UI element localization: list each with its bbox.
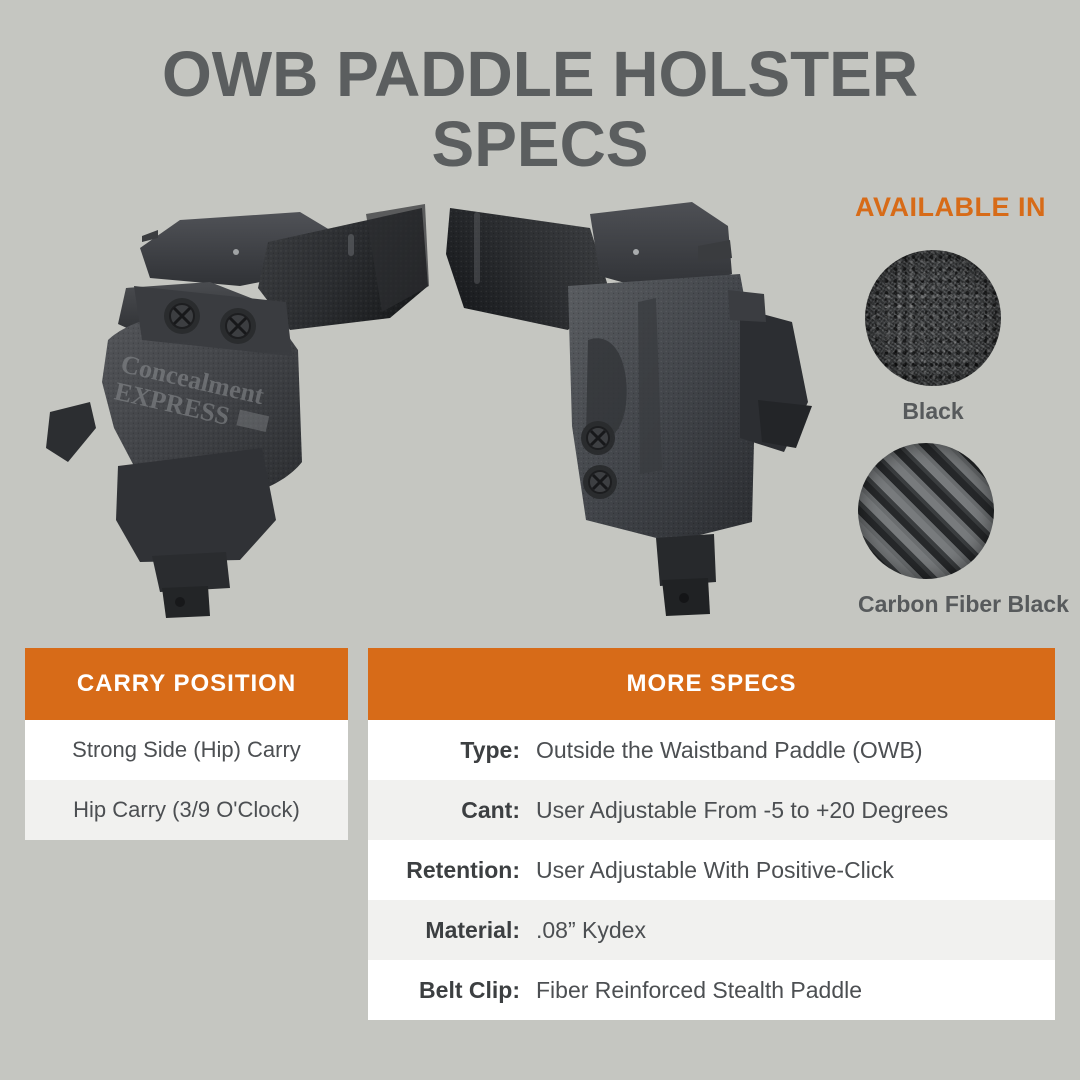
more-specs-table-header: MORE SPECS — [368, 648, 1055, 720]
available-in-label: AVAILABLE IN — [855, 192, 1046, 223]
belt-clip-tab — [162, 586, 210, 618]
holster-muzzle — [152, 552, 230, 592]
paddle-hook — [758, 400, 812, 448]
page-title: OWB PADDLE HOLSTER SPECS — [0, 42, 1080, 176]
holster-shell — [116, 448, 276, 562]
color-option-black[interactable]: Black — [865, 250, 1001, 425]
holster-rear-illustration — [440, 190, 830, 620]
more-specs-table: MORE SPECS Type: Outside the Waistband P… — [368, 648, 1055, 1020]
black-texture-swatch — [865, 250, 1001, 386]
spec-value-material: .08” Kydex — [536, 917, 646, 944]
table-row: Cant: User Adjustable From -5 to +20 Deg… — [368, 780, 1055, 840]
carry-position-value: Hip Carry (3/9 O'Clock) — [73, 797, 300, 823]
color-option-carbon-fiber-black[interactable]: Carbon Fiber Black — [858, 443, 1069, 618]
holster-shell — [568, 274, 756, 542]
table-row: Type: Outside the Waistband Paddle (OWB) — [368, 720, 1055, 780]
carry-position-value: Strong Side (Hip) Carry — [72, 737, 301, 763]
table-row: Hip Carry (3/9 O'Clock) — [25, 780, 348, 840]
spec-label-material: Material: — [368, 917, 536, 944]
page-title-line-2: SPECS — [0, 112, 1080, 176]
table-row: Strong Side (Hip) Carry — [25, 720, 348, 780]
paddle-hook — [46, 402, 96, 462]
product-photo-rear — [440, 190, 830, 620]
spec-value-cant: User Adjustable From -5 to +20 Degrees — [536, 797, 948, 824]
color-option-carbon-fiber-black-label: Carbon Fiber Black — [858, 591, 1069, 618]
adjustment-screw-1 — [164, 298, 200, 334]
table-row: Material: .08” Kydex — [368, 900, 1055, 960]
spec-value-retention: User Adjustable With Positive-Click — [536, 857, 894, 884]
adjustment-screw-1 — [581, 421, 615, 455]
product-photo-front: Concealment EXPRESS — [30, 190, 450, 620]
table-row: Belt Clip: Fiber Reinforced Stealth Padd… — [368, 960, 1055, 1020]
spec-label-type: Type: — [368, 737, 536, 764]
holster-front-illustration: Concealment EXPRESS — [30, 190, 450, 620]
spec-label-cant: Cant: — [368, 797, 536, 824]
spec-label-retention: Retention: — [368, 857, 536, 884]
table-row: Retention: User Adjustable With Positive… — [368, 840, 1055, 900]
spec-value-belt-clip: Fiber Reinforced Stealth Paddle — [536, 977, 862, 1004]
carry-position-table: CARRY POSITION Strong Side (Hip) Carry H… — [25, 648, 348, 840]
adjustment-screw-2 — [583, 465, 617, 499]
spec-value-type: Outside the Waistband Paddle (OWB) — [536, 737, 923, 764]
belt-attachment — [728, 290, 766, 322]
color-option-black-label: Black — [865, 398, 1001, 425]
page-title-line-1: OWB PADDLE HOLSTER — [162, 38, 918, 110]
carbon-fiber-texture-swatch — [858, 443, 994, 579]
carry-position-table-header: CARRY POSITION — [25, 648, 348, 720]
adjustment-screw-2 — [220, 308, 256, 344]
infographic-page: OWB PADDLE HOLSTER SPECS — [0, 0, 1080, 1080]
spec-label-belt-clip: Belt Clip: — [368, 977, 536, 1004]
